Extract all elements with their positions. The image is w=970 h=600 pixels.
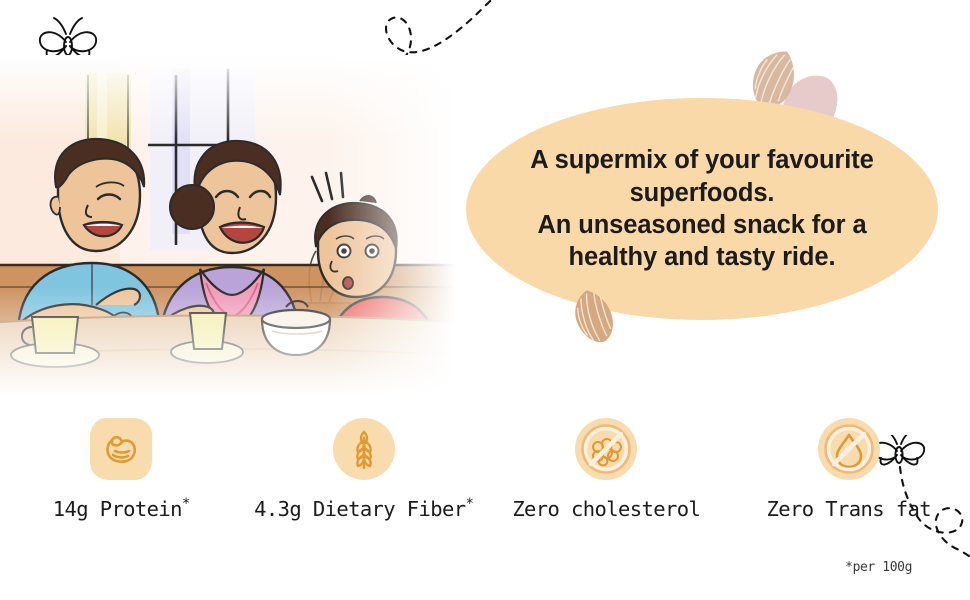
no-trans-fat-icon-badge (818, 418, 880, 480)
family-eating-illustration (0, 55, 455, 395)
no-cholesterol-icon (580, 423, 632, 475)
no-trans-fat-icon (823, 423, 875, 475)
feature-protein[interactable]: 14g Protein* (0, 418, 243, 521)
feature-row: 14g Protein* 4.3g Dietary (0, 418, 970, 548)
feature-transfat[interactable]: Zero Trans fat (728, 418, 970, 521)
no-cholesterol-icon-badge (575, 418, 637, 480)
wheat-icon (345, 428, 383, 470)
feature-label-cholesterol: Zero cholesterol (512, 496, 700, 521)
callout-bubble: A supermix of your favourite superfoods.… (466, 98, 938, 320)
muscle-icon (101, 429, 141, 469)
poster-canvas: A supermix of your favourite superfoods.… (0, 0, 970, 600)
feature-fiber[interactable]: 4.3g Dietary Fiber* (243, 418, 486, 521)
feature-cholesterol[interactable]: Zero cholesterol (485, 418, 728, 521)
muscle-icon-badge (90, 418, 152, 480)
callout-text: A supermix of your favourite superfoods.… (466, 144, 938, 274)
feature-label-fiber: 4.3g Dietary Fiber* (254, 496, 473, 521)
wheat-icon-badge (333, 418, 395, 480)
footnote: *per 100g (845, 560, 912, 575)
feature-label-protein: 14g Protein* (53, 496, 190, 521)
feature-label-transfat: Zero Trans fat (767, 496, 931, 521)
